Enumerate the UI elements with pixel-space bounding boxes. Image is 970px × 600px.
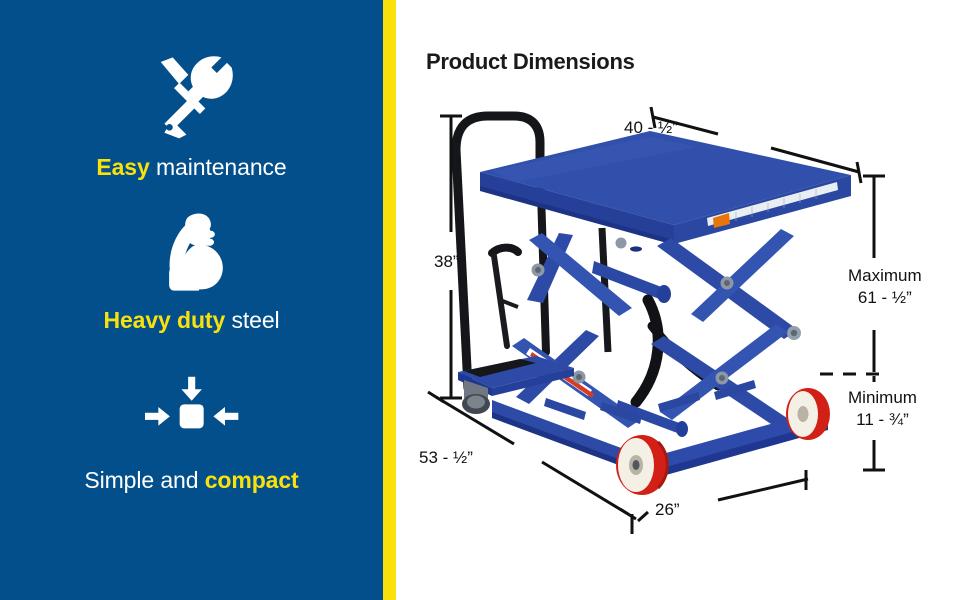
feature-normal-text: Simple and: [84, 467, 198, 493]
feature-label-simple-and-compact: Simple and compact: [0, 467, 383, 493]
feature-normal-text: maintenance: [156, 154, 287, 180]
flexed-bicep-icon: [148, 207, 236, 295]
feature-normal-text: steel: [231, 307, 279, 333]
dimension-label-length: 53 - ½”: [419, 448, 473, 468]
feature-strong-text: Easy: [96, 154, 149, 180]
dimension-label-depth: 26”: [655, 500, 680, 520]
dimension-label-width: 40 - ½”: [624, 118, 678, 138]
feature-label-easy-maintenance: Easy maintenance: [0, 154, 383, 180]
feature-strong-text: Heavy duty: [103, 307, 225, 333]
dimension-label-maximum: Maximum 61 - ½”: [848, 265, 922, 309]
feature-strong-text: compact: [205, 467, 299, 493]
feature-simple-and-compact: Simple and compact: [0, 375, 383, 493]
wrench-screwdriver-icon: [146, 50, 238, 142]
dimension-value-minimum: 11 - ¾”: [848, 409, 917, 431]
poly-wheel-front: [616, 435, 668, 495]
compress-arrows-icon: [129, 375, 253, 455]
product-infographic: Easy maintenance Heavy duty steel: [0, 0, 970, 600]
dimension-value-maximum: 61 - ½”: [848, 287, 922, 309]
feature-heavy-duty-steel: Heavy duty steel: [0, 207, 383, 333]
dimensions-panel: Product Dimensions: [396, 0, 970, 600]
dimension-caption-maximum: Maximum: [848, 265, 922, 287]
feature-label-heavy-duty-steel: Heavy duty steel: [0, 307, 383, 333]
panel-divider-stripe: [383, 0, 396, 600]
features-panel: Easy maintenance Heavy duty steel: [0, 0, 383, 600]
dimension-caption-minimum: Minimum: [848, 387, 917, 409]
feature-easy-maintenance: Easy maintenance: [0, 50, 383, 180]
scissor-lift-cart: [456, 116, 851, 495]
dimension-label-minimum: Minimum 11 - ¾”: [848, 387, 917, 431]
foot-pump-lever: [492, 248, 518, 346]
dimension-label-height: 38”: [434, 252, 459, 272]
poly-wheel-rear: [786, 388, 830, 440]
